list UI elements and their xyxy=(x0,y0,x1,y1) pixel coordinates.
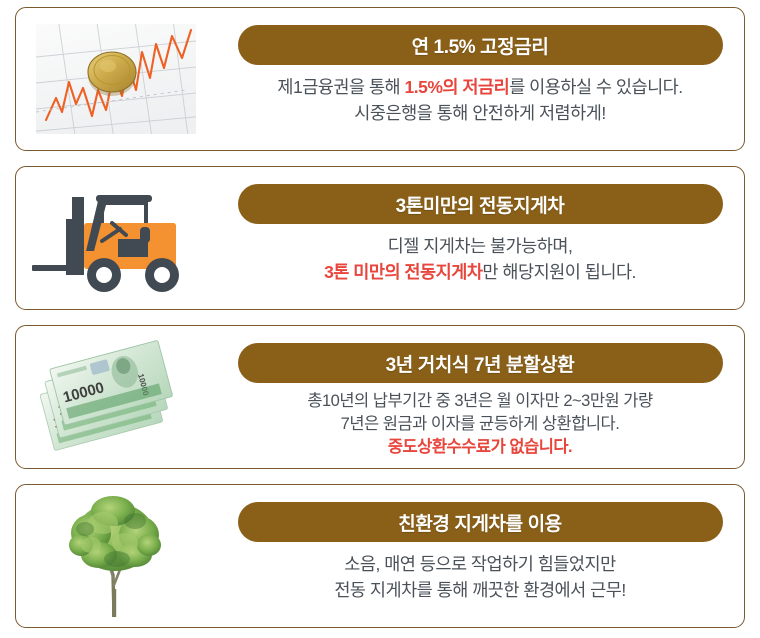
card-heading-pill: 3년 거치식 7년 분할상환 xyxy=(238,343,723,383)
body-text-segment: 를 이용하실 수 있습니다. xyxy=(509,77,682,97)
body-line: 총10년의 납부기간 중 3년은 월 이자만 2~3만원 가량 xyxy=(307,390,652,413)
card-body-text: 제1금융권을 통해 1.5%의 저금리를 이용하실 수 있습니다. 시중은행을 … xyxy=(277,74,682,127)
card-media-tree xyxy=(16,484,216,628)
body-text-segment: 총10년의 납부기간 중 3년은 월 이자만 2~3만원 가량 xyxy=(307,392,652,410)
body-text-highlight: 3톤 미만의 전동지게차 xyxy=(324,262,482,282)
body-line: 중도상환수수료가 없습니다. xyxy=(307,436,652,459)
benefit-card-fixed-interest-rate: 연 1.5% 고정금리 제1금융권을 통해 1.5%의 저금리를 이용하실 수 … xyxy=(15,7,745,151)
body-text-segment: 제1금융권을 통해 xyxy=(277,77,404,97)
body-line: 소음, 매연 등으로 작업하기 힘들었지만 xyxy=(334,551,625,577)
body-text-highlight: 중도상환수수료가 없습니다. xyxy=(388,438,572,456)
body-line: 제1금융권을 통해 1.5%의 저금리를 이용하실 수 있습니다. xyxy=(277,74,682,100)
card-body-text: 소음, 매연 등으로 작업하기 힘들었지만 전동 지게차를 통해 깨끗한 환경에… xyxy=(334,551,625,604)
card-media-forklift xyxy=(16,166,216,310)
body-text-segment: 만 해당지원이 됩니다. xyxy=(482,262,636,282)
body-line: 3톤 미만의 전동지게차만 해당지원이 됩니다. xyxy=(324,259,636,285)
korean-banknotes-photo: 10000 10000 10000 10000 xyxy=(31,337,201,457)
body-text-segment: 7년은 원금과 이자를 균등하게 상환합니다. xyxy=(341,415,620,433)
body-text-highlight: 1.5%의 저금리 xyxy=(405,77,510,97)
body-line: 시중은행을 통해 안전하게 저렴하게! xyxy=(277,100,682,126)
card-heading-pill: 3톤미만의 전동지게차 xyxy=(238,184,723,224)
body-line: 7년은 원금과 이자를 균등하게 상환합니다. xyxy=(307,413,652,436)
green-tree-photo xyxy=(51,493,181,619)
benefit-card-eco-friendly: 친환경 지게차를 이용 소음, 매연 등으로 작업하기 힘들었지만 전동 지게차… xyxy=(15,484,745,628)
card-content: 3톤미만의 전동지게차 디젤 지게차는 불가능하며, 3톤 미만의 전동지게차만… xyxy=(216,166,744,310)
body-line: 전동 지게차를 통해 깨끗한 환경에서 근무! xyxy=(334,577,625,603)
card-media-banknotes: 10000 10000 10000 10000 xyxy=(16,325,216,469)
card-content: 3년 거치식 7년 분할상환 총10년의 납부기간 중 3년은 월 이자만 2~… xyxy=(216,325,744,469)
forklift-illustration xyxy=(32,179,200,297)
body-text-segment: 소음, 매연 등으로 작업하기 힘들었지만 xyxy=(344,554,615,574)
card-heading-pill: 친환경 지게차를 이용 xyxy=(238,502,723,542)
body-text-segment: 시중은행을 통해 안전하게 저렴하게! xyxy=(354,103,605,123)
body-text-segment: 전동 지게차를 통해 깨끗한 환경에서 근무! xyxy=(334,580,625,600)
card-heading-pill: 연 1.5% 고정금리 xyxy=(238,25,723,65)
infographic-page: 연 1.5% 고정금리 제1금융권을 통해 1.5%의 저금리를 이용하실 수 … xyxy=(0,0,760,638)
card-content: 연 1.5% 고정금리 제1금융권을 통해 1.5%의 저금리를 이용하실 수 … xyxy=(216,7,744,151)
card-content: 친환경 지게차를 이용 소음, 매연 등으로 작업하기 힘들었지만 전동 지게차… xyxy=(216,484,744,628)
card-body-text: 총10년의 납부기간 중 3년은 월 이자만 2~3만원 가량 7년은 원금과 … xyxy=(307,390,652,458)
coin-on-chart-photo xyxy=(36,24,196,134)
body-text-segment: 디젤 지게차는 불가능하며, xyxy=(388,236,573,256)
card-body-text: 디젤 지게차는 불가능하며, 3톤 미만의 전동지게차만 해당지원이 됩니다. xyxy=(324,233,636,286)
benefit-card-repayment-schedule: 10000 10000 10000 10000 xyxy=(15,325,745,469)
card-media-coin-on-chart xyxy=(16,7,216,151)
body-line: 디젤 지게차는 불가능하며, xyxy=(324,233,636,259)
benefit-card-electric-forklift-limit: 3톤미만의 전동지게차 디젤 지게차는 불가능하며, 3톤 미만의 전동지게차만… xyxy=(15,166,745,310)
